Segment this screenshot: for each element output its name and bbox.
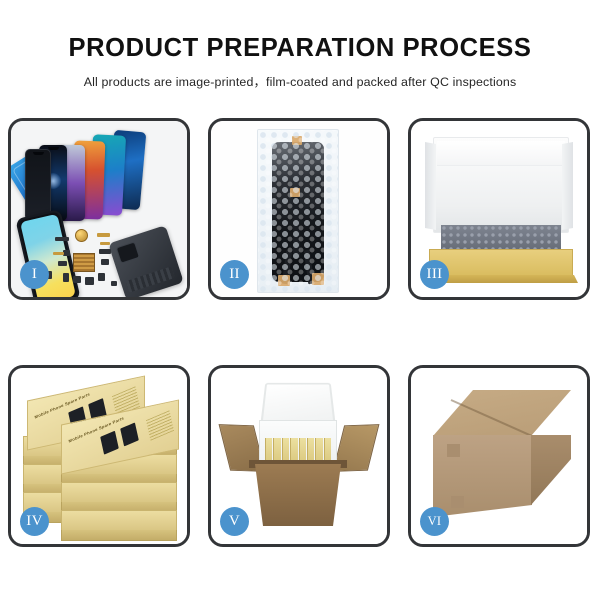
tape-patch [451,496,464,508]
camera-module-icon [116,241,140,263]
flex-cable [53,252,64,255]
foam-lid [433,137,569,233]
carton-side-face [531,435,571,517]
small-part [99,249,111,254]
small-part [58,261,67,266]
carton-body [249,464,347,526]
kraft-box [61,482,177,504]
box-spec-text [146,410,174,441]
connector-grid-chip [73,253,95,272]
step-card-6[interactable]: VI [408,365,590,547]
small-part [63,273,69,282]
small-part [101,259,109,265]
small-part [73,276,81,283]
step-badge-5: V [220,507,249,536]
box-window [100,431,119,455]
step-badge-1: I [20,260,49,289]
small-part [63,250,70,256]
box-stack: Mobile Phone Spare Parts Mobile Phone Sp… [21,382,183,532]
bubble-texture-overlay [258,130,338,292]
process-steps-grid: I II III [8,118,592,547]
battery-strip [126,266,175,292]
box-window [120,422,139,446]
flex-cable [97,233,110,237]
styrofoam-lid [260,383,335,424]
small-part [111,281,117,286]
step-badge-6: VI [420,507,449,536]
page-header: PRODUCT PREPARATION PROCESS All products… [0,0,600,90]
step-badge-4: IV [20,507,49,536]
page-title: PRODUCT PREPARATION PROCESS [0,34,600,63]
step-card-1[interactable]: I [8,118,190,300]
carton-top-face [433,390,571,436]
step-card-4[interactable]: Mobile Phone Spare Parts Mobile Phone Sp… [8,365,190,547]
foam-lid-right-flap [562,142,573,230]
phone-glass-panel [25,149,51,221]
page-subtitle: All products are image-printed，film-coat… [0,72,600,90]
kraft-box-tray [429,249,573,277]
box-side [61,530,177,541]
flex-cable [100,242,110,245]
speaker-part [75,229,88,242]
step-card-5[interactable]: V [208,365,390,547]
step-badge-3: III [420,260,449,289]
step-badge-2: II [220,260,249,289]
step-card-3[interactable]: III [408,118,590,300]
small-part [98,273,105,281]
kraft-box [61,510,177,532]
foam-lid-left-flap [425,142,436,230]
small-part [85,277,94,285]
step-card-2[interactable]: II [208,118,390,300]
phone-backplate [108,225,184,297]
small-part [55,237,69,241]
tape-patch [447,444,460,457]
notch-icon [33,152,44,155]
bubble-wrap-sleeve [257,129,339,293]
